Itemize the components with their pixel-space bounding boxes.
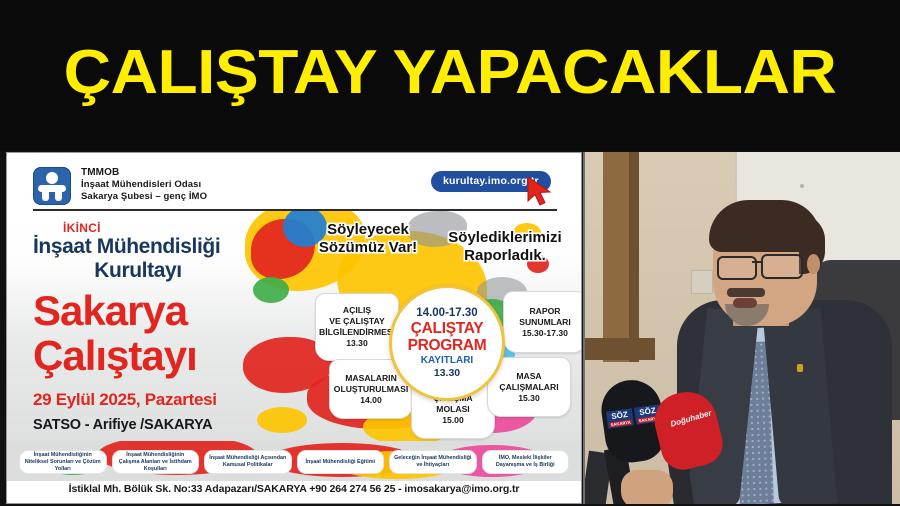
screenshot-root: ÇALIŞTAY YAPACAKLAR TMMOB İnşaat Mühendi… — [0, 0, 900, 506]
page-title: ÇALIŞTAY YAPACAKLAR — [0, 38, 900, 108]
press-conference-photo: SÖZ SAKARYA SÖZ SAKARYA Doğuhaber — [585, 152, 900, 504]
photo-glasses-left-lens — [717, 256, 757, 280]
program-center-sub-time: 13.30 — [434, 367, 460, 380]
poster-date: 29 Eylül 2025, Pazartesi — [33, 389, 283, 411]
photo-baseboard — [585, 338, 655, 360]
photo-glasses-right-lens — [761, 254, 803, 279]
poster-venue: SATSO - Arifiye /SAKARYA — [33, 415, 283, 435]
topic-pill: İnşaat Mühendisliğinin Çalışma Alanları … — [112, 450, 200, 474]
topic-pill: İnşaat Mühendisliğinin Niteliksel Sorunl… — [19, 450, 107, 474]
poster-kurultay-line-1: İnşaat Mühendisliği — [33, 235, 283, 259]
program-item-rapor: RAPOR SUNUMLARI 15.30-17.30 — [503, 291, 581, 353]
poster-eyebrow: İKİNCİ — [63, 221, 283, 235]
program-item-label: MASALARIN OLUŞTURULMASI — [334, 373, 408, 395]
photo-person-moustache — [727, 288, 765, 297]
organization-logo-block: TMMOB İnşaat Mühendisleri Odası Sakarya … — [33, 167, 207, 205]
headline-band: ÇALIŞTAY YAPACAKLAR — [0, 0, 900, 150]
photo-wall-screw — [800, 184, 804, 188]
program-center-sub: KAYITLARI — [421, 354, 473, 367]
program-item-time: 14.00 — [360, 395, 382, 406]
topic-pill: Geleceğin İnşaat Mühendisliği ve İhtiyaç… — [389, 450, 477, 474]
org-line-1: TMMOB — [81, 167, 207, 179]
photo-person-ear — [807, 254, 820, 274]
organization-name: TMMOB İnşaat Mühendisleri Odası Sakarya … — [81, 167, 207, 203]
poster-left-column: İKİNCİ İnşaat Mühendisliği Kurultayı Sak… — [33, 221, 283, 435]
program-item-time: 15.00 — [442, 415, 464, 426]
program-item-label: RAPOR SUNUMLARI — [519, 306, 571, 328]
program-item-time: 15.30 — [518, 393, 540, 404]
program-center-title-1: ÇALIŞTAY — [411, 320, 484, 337]
slogan-2: Söylediklerimizi Raporladık. — [435, 229, 575, 265]
program-item-label: AÇILIŞ VE ÇALIŞTAY BİLGİLENDİRMESİ — [319, 305, 395, 338]
program-item-label: MASA ÇALIŞMALARI — [499, 371, 558, 393]
program-center-circle: 14.00-17.30 ÇALIŞTAY PROGRAM KAYITLARI 1… — [389, 285, 505, 401]
topic-pill: İnşaat Mühendisliği Eğitimi — [297, 450, 385, 474]
program-item-time: 15.30-17.30 — [522, 328, 568, 339]
program-item-time: 13.30 — [346, 338, 368, 349]
program-item-acilis: AÇILIŞ VE ÇALIŞTAY BİLGİLENDİRMESİ 13.30 — [315, 293, 399, 361]
slogan-1: Söyleyecek Sözümüz Var! — [313, 221, 423, 257]
org-line-3: Sakarya Şubesi – genç İMO — [81, 191, 207, 203]
imo-figure-icon — [33, 167, 71, 205]
poster-city: Sakarya — [33, 289, 283, 333]
program-center-title-2: PROGRAM — [408, 337, 487, 354]
program-wheel: AÇILIŞ VE ÇALIŞTAY BİLGİLENDİRMESİ 13.30… — [307, 267, 581, 447]
topic-pill: İnşaat Mühendisliği Açısından Kamusal Po… — [204, 450, 292, 474]
poster-event-name: Çalıştayı — [33, 333, 283, 379]
photo-hand — [621, 470, 673, 504]
poster-body: İKİNCİ İnşaat Mühendisliği Kurultayı Sak… — [7, 211, 581, 447]
photo-person-mouth — [733, 298, 757, 308]
topic-pill: İMO, Mesleki İlişkiler Dayanışma ve İş B… — [482, 450, 570, 474]
event-poster: TMMOB İnşaat Mühendisleri Odası Sakarya … — [6, 152, 582, 504]
photo-glasses-bridge — [752, 261, 763, 263]
poster-kurultay-line-2: Kurultayı — [33, 259, 243, 283]
photo-lapel-pin — [797, 364, 803, 372]
program-center-time: 14.00-17.30 — [416, 306, 477, 320]
photo-door-frame — [603, 152, 629, 362]
content-area: TMMOB İnşaat Mühendisleri Odası Sakarya … — [0, 150, 900, 506]
topics-list: İnşaat Mühendisliğinin Niteliksel Sorunl… — [7, 447, 581, 477]
poster-header: TMMOB İnşaat Mühendisleri Odası Sakarya … — [7, 153, 581, 211]
mic-label-soz-1: SÖZ SAKARYA — [606, 408, 634, 428]
org-line-2: İnşaat Mühendisleri Odası — [81, 179, 207, 191]
photo-door-edge — [629, 152, 639, 362]
photo-light-switch — [691, 270, 713, 294]
